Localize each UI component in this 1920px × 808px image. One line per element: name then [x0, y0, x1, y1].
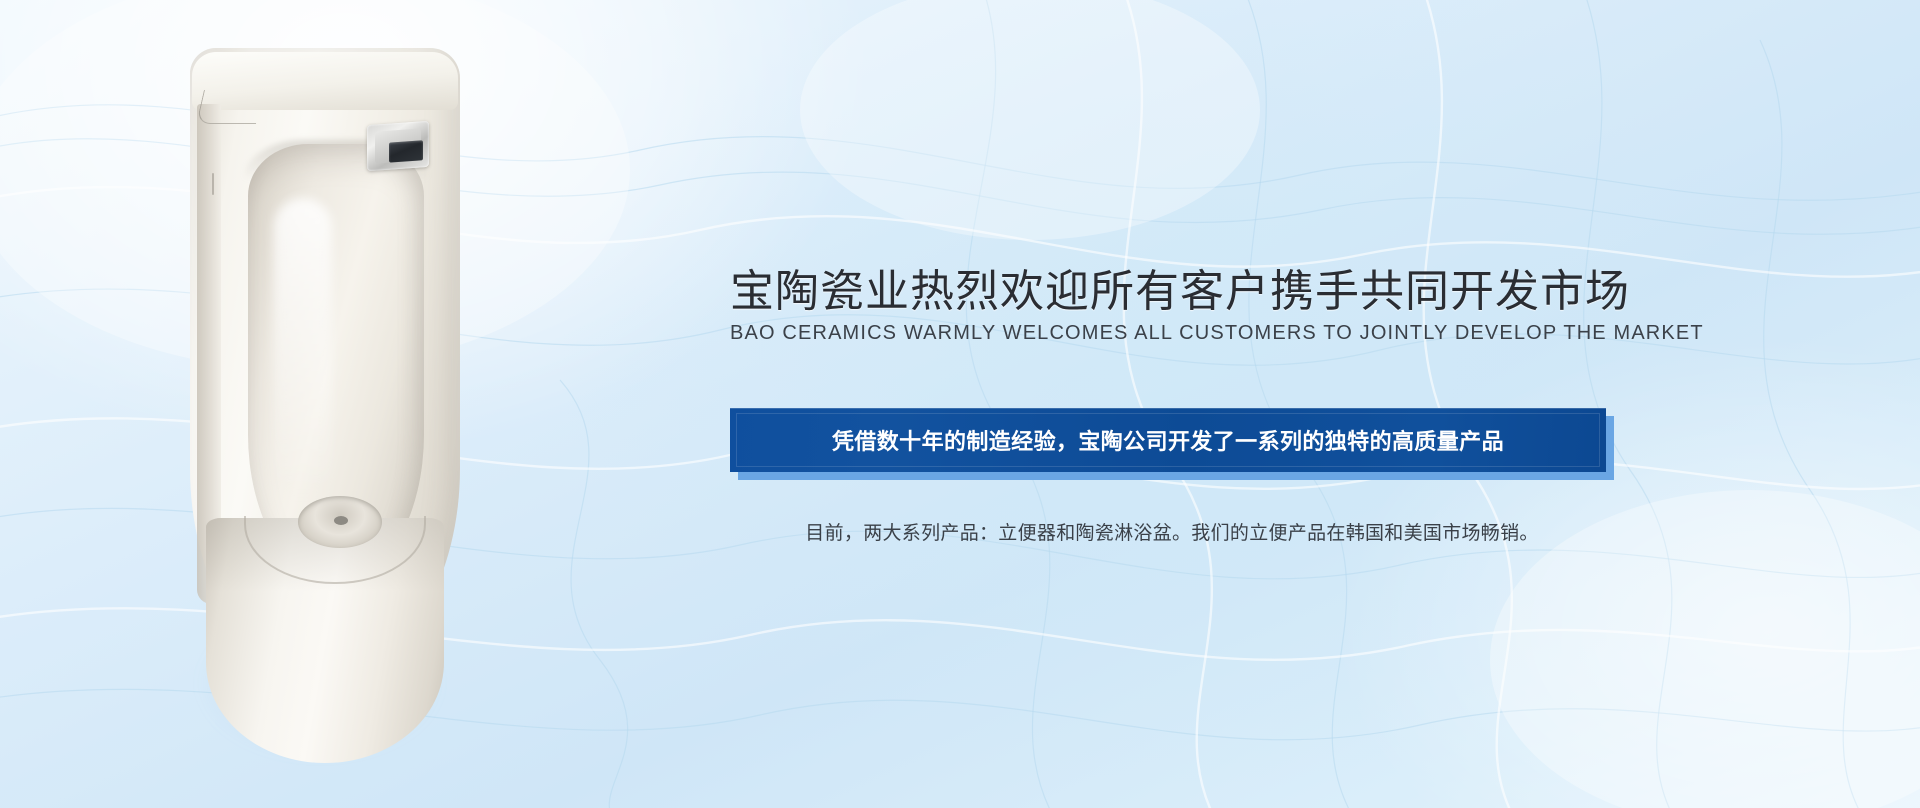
- product-image-ceramic-urinal: [170, 48, 490, 748]
- banner-headline: 宝陶瓷业热烈欢迎所有客户携手共同开发市场: [730, 255, 1610, 319]
- highlight-ribbon: 凭借数十年的制造经验，宝陶公司开发了一系列的独特的高质量产品: [730, 408, 1614, 480]
- hero-banner: 宝陶瓷业热烈欢迎所有客户携手共同开发市场 BAO CERAMICS WARMLY…: [0, 0, 1920, 808]
- urinal-side-notch: [212, 173, 214, 195]
- sensor-lens: [389, 140, 423, 162]
- urinal-bowl-highlight: [274, 198, 332, 498]
- sensor-bezel: [375, 128, 421, 163]
- banner-text-column: 宝陶瓷业热烈欢迎所有客户携手共同开发市场 BAO CERAMICS WARMLY…: [730, 0, 1730, 808]
- infrared-sensor-icon: [367, 121, 429, 171]
- urinal-top-seam-line: [196, 90, 264, 124]
- banner-subheadline-english: BAO CERAMICS WARMLY WELCOMES ALL CUSTOME…: [730, 322, 1610, 345]
- banner-description-paragraph: 目前，两大系列产品：立便器和陶瓷淋浴盆。我们的立便产品在韩国和美国市场畅销。: [732, 518, 1612, 545]
- ribbon-label: 凭借数十年的制造经验，宝陶公司开发了一系列的独特的高质量产品: [730, 408, 1606, 472]
